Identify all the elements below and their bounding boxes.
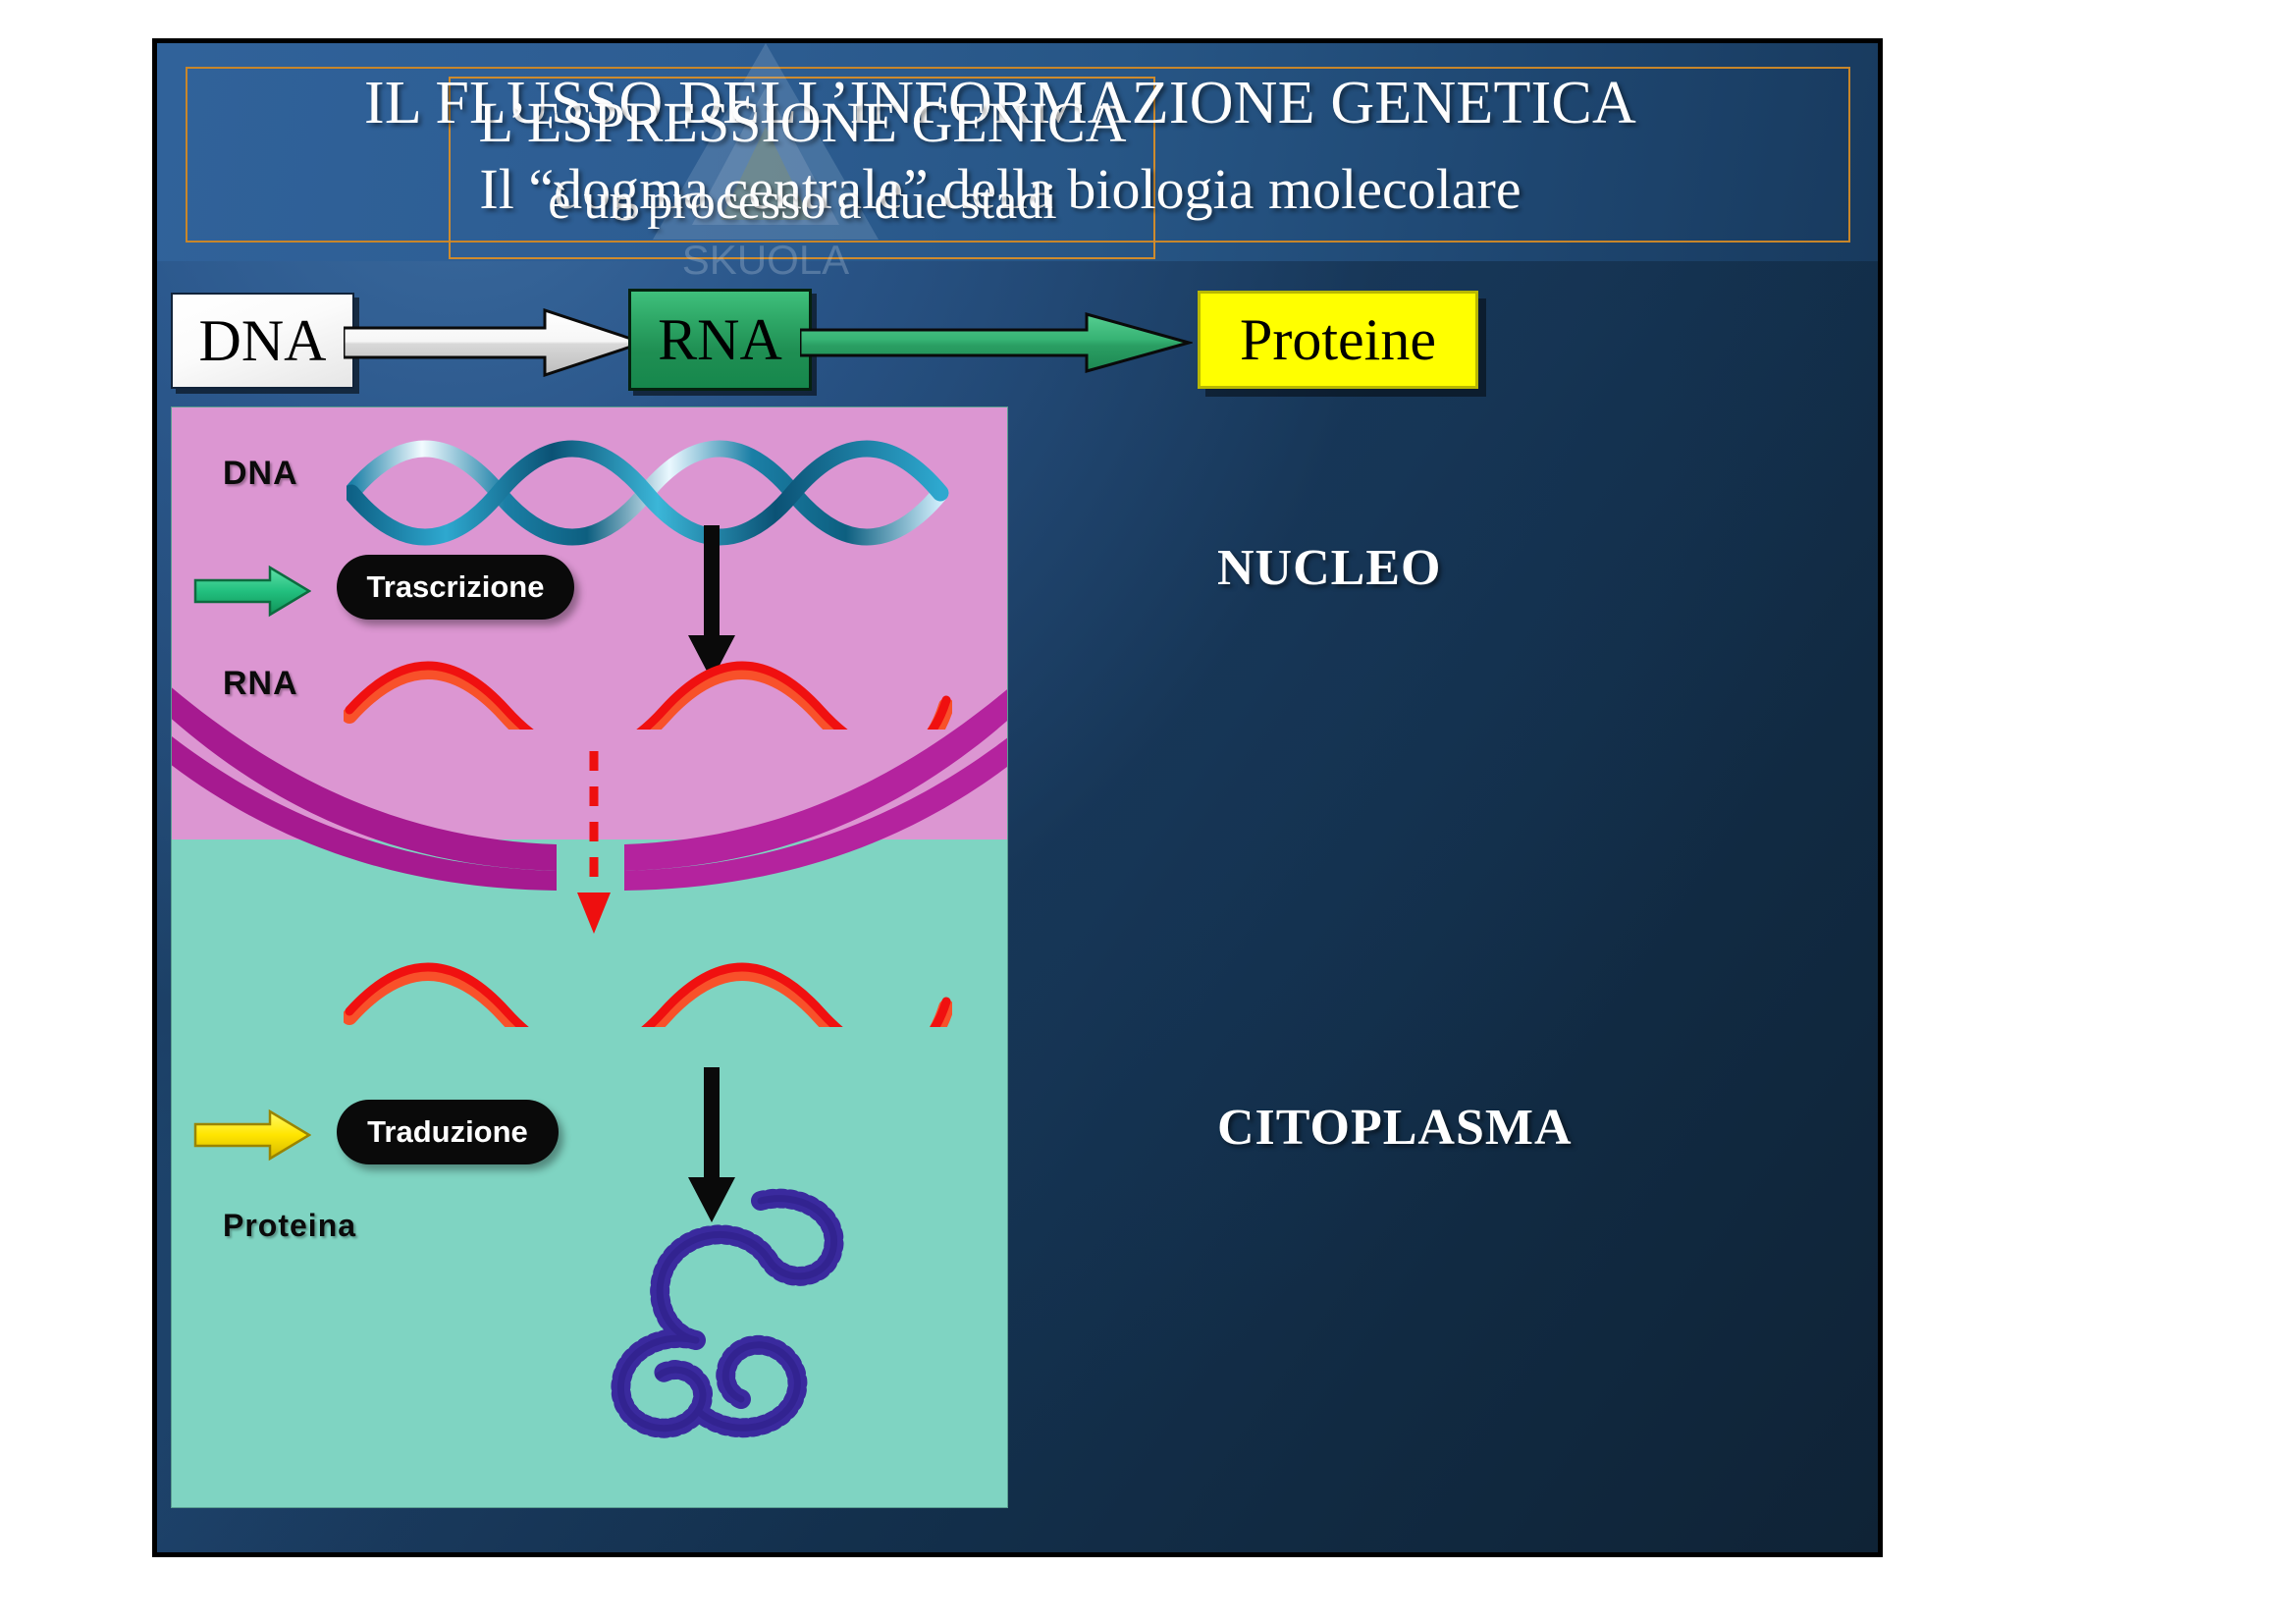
translation-step-arrow-icon (193, 1109, 311, 1162)
overlay-title-line-2: è un processo a due stadi (456, 177, 1148, 228)
dogma-flow-row: DNA RNA (157, 275, 1878, 403)
flow-box-rna[interactable]: RNA (628, 289, 812, 391)
nuclear-pore-export-arrow-icon (564, 749, 623, 936)
cell-expression-figure: DNA Trascrizione (171, 406, 1008, 1508)
figure-label-dna: DNA (223, 455, 298, 493)
step-badge-trascrizione[interactable]: Trascrizione (337, 555, 574, 620)
slide-root: SKUOLA IL FLUSSO DELL’INFORMAZIONE GENET… (0, 0, 2296, 1623)
rna-strand-nucleus-icon (344, 655, 952, 730)
folded-protein-icon (553, 1183, 877, 1458)
dna-double-helix-icon (347, 429, 955, 557)
region-label-nucleo: NUCLEO (1217, 539, 1441, 597)
transcription-step-arrow-icon (193, 565, 311, 618)
flow-box-proteine[interactable]: Proteine (1198, 291, 1478, 389)
flow-box-dna[interactable]: DNA (171, 293, 354, 389)
overlay-title-line-1: L’ESPRESSIONE GENICA (456, 94, 1148, 151)
transcription-arrow-icon (344, 308, 648, 377)
figure-label-proteina: Proteina (223, 1208, 356, 1244)
region-label-citoplasma: CITOPLASMA (1217, 1099, 1573, 1157)
presentation-slide: SKUOLA IL FLUSSO DELL’INFORMAZIONE GENET… (157, 43, 1878, 1552)
figure-label-rna: RNA (223, 665, 298, 703)
rna-strand-cytoplasm-icon (344, 952, 952, 1027)
step-badge-traduzione[interactable]: Traduzione (337, 1100, 559, 1164)
translation-arrow-icon (800, 312, 1193, 373)
